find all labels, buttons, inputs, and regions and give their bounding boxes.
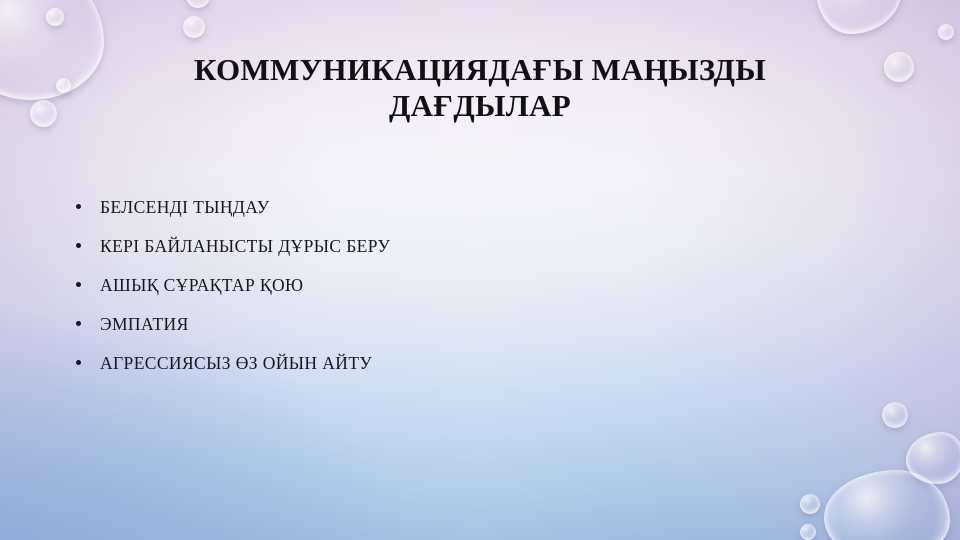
bullet-dot-icon: [76, 360, 81, 365]
list-item: КЕРІ БАЙЛАНЫСТЫ ДҰРЫС БЕРУ: [72, 231, 892, 270]
list-item: АШЫҚ СҰРАҚТАР ҚОЮ: [72, 270, 892, 309]
bubble-tiny-bottomright-icon: [800, 494, 820, 514]
list-item-label: КЕРІ БАЙЛАНЫСТЫ ДҰРЫС БЕРУ: [100, 236, 390, 256]
bubble-topedge-right-icon: [816, 0, 902, 34]
bubble-tiny-topright-icon: [938, 24, 954, 40]
list-item-label: АГРЕССИЯСЫЗ ӨЗ ОЙЫН АЙТУ: [100, 353, 372, 373]
list-item-label: АШЫҚ СҰРАҚТАР ҚОЮ: [100, 275, 303, 295]
list-item: АГРЕССИЯСЫЗ ӨЗ ОЙЫН АЙТУ: [72, 348, 892, 387]
bubble-small-left-icon: [46, 8, 64, 26]
bullet-list: БЕЛСЕНДІ ТЫҢДАУ КЕРІ БАЙЛАНЫСТЫ ДҰРЫС БЕ…: [72, 192, 892, 387]
bubble-small-topright-icon: [884, 52, 914, 82]
bubble-tiny-left-upper-icon: [56, 78, 71, 93]
bullet-dot-icon: [76, 243, 81, 248]
bubble-large-bottomright-icon: [824, 470, 950, 540]
bubble-tiny-bottomedge-icon: [800, 524, 816, 540]
bubble-medium-bottomright-icon: [906, 432, 960, 484]
bubble-topedge-left-icon: [186, 0, 210, 8]
list-item-label: БЕЛСЕНДІ ТЫҢДАУ: [100, 197, 270, 217]
bubble-topedge-left-b-icon: [183, 16, 205, 38]
page-title: КОММУНИКАЦИЯДАҒЫ МАҢЫЗДЫ ДАҒДЫЛАР: [72, 52, 888, 124]
bubble-small-right-mid-icon: [882, 402, 908, 428]
bullet-dot-icon: [76, 204, 81, 209]
slide-canvas: КОММУНИКАЦИЯДАҒЫ МАҢЫЗДЫ ДАҒДЫЛАР БЕЛСЕН…: [0, 0, 960, 540]
bubble-medium-topleft-icon: [30, 100, 57, 127]
bullet-dot-icon: [76, 321, 81, 326]
bullet-dot-icon: [76, 282, 81, 287]
list-item: БЕЛСЕНДІ ТЫҢДАУ: [72, 192, 892, 231]
list-item-label: ЭМПАТИЯ: [100, 314, 189, 334]
list-item: ЭМПАТИЯ: [72, 309, 892, 348]
